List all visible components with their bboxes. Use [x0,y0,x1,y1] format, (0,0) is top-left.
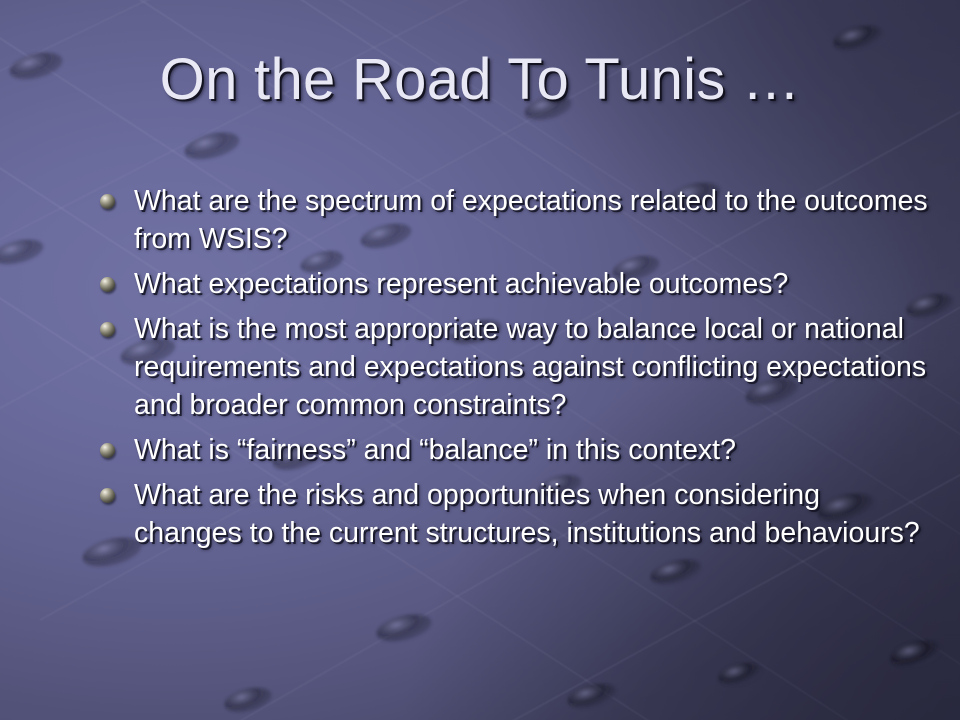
bullet-text: What expectations represent achievable o… [134,265,930,303]
bullet-text: What is the most appropriate way to bala… [134,310,930,424]
sphere-bullet-icon [100,322,115,337]
list-item: What are the spectrum of expectations re… [100,182,930,258]
list-item: What expectations represent achievable o… [100,265,930,303]
slide-title: On the Road To Tunis … [60,48,900,112]
sphere-bullet-icon [100,488,115,503]
presentation-slide: On the Road To Tunis … What are the spec… [0,0,960,720]
list-item: What is the most appropriate way to bala… [100,310,930,424]
bullet-text: What are the spectrum of expectations re… [134,182,930,258]
sphere-bullet-icon [100,443,115,458]
slide-body-bullet-list: What are the spectrum of expectations re… [100,182,930,559]
bullet-text: What is “fairness” and “balance” in this… [134,431,930,469]
list-item: What are the risks and opportunities whe… [100,476,930,552]
sphere-bullet-icon [100,194,115,209]
sphere-bullet-icon [100,277,115,292]
bullet-text: What are the risks and opportunities whe… [134,476,930,552]
list-item: What is “fairness” and “balance” in this… [100,431,930,469]
